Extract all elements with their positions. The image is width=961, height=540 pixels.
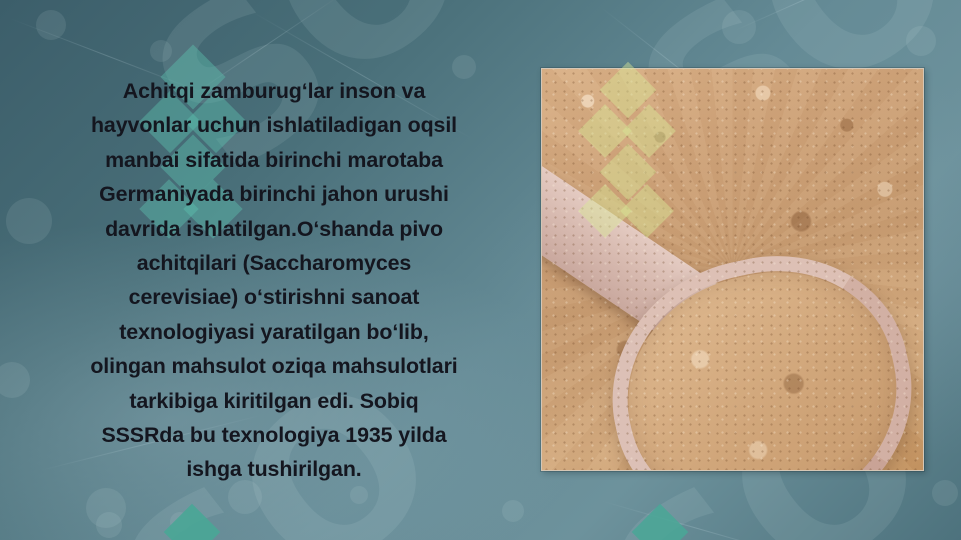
- text-line: ishga tushirilgan.: [186, 457, 361, 481]
- bokeh-circle: [932, 480, 958, 506]
- text-line: texnologiyasi yaratilgan bo‘lib,: [119, 320, 428, 344]
- bokeh-circle: [502, 500, 524, 522]
- bokeh-circle: [350, 486, 368, 504]
- bokeh-circle: [906, 26, 936, 56]
- photo-speckle-layer: [542, 69, 923, 470]
- text-line: tarkibiga kiritilgan edi. Sobiq: [129, 389, 418, 413]
- text-line: cerevisiae) o‘stirishni sanoat: [129, 285, 420, 309]
- text-line: davrida ishlatilgan.O‘shanda pivo: [105, 217, 443, 241]
- network-line: [600, 500, 793, 540]
- yeast-photo: [541, 68, 924, 471]
- slide-body-text: Achitqi zamburug‘lar inson va hayvonlar …: [18, 74, 530, 487]
- decorative-diamond: [632, 504, 689, 540]
- bokeh-circle: [36, 10, 66, 40]
- presentation-slide: SO SO SO SO Achitqi zamburug‘lar inson v…: [0, 0, 961, 540]
- text-line: Achitqi zamburug‘lar inson va: [123, 79, 426, 103]
- text-line: manbai sifatida birinchi marotaba: [105, 148, 443, 172]
- text-line: achitqilari (Saccharomyces: [137, 251, 411, 275]
- text-line: Germaniyada birinchi jahon urushi: [99, 182, 449, 206]
- text-line: hayvonlar uchun ishlatiladigan oqsil: [91, 113, 457, 137]
- bokeh-circle: [722, 10, 756, 44]
- bokeh-circle: [86, 488, 126, 528]
- decorative-diamond: [164, 504, 221, 540]
- bokeh-circle: [170, 512, 190, 532]
- bokeh-circle: [96, 512, 122, 538]
- bokeh-circle: [150, 40, 172, 62]
- network-line: [735, 0, 872, 31]
- text-line: SSSRda bu texnologiya 1935 yilda: [101, 423, 446, 447]
- text-line: olingan mahsulot oziqa mahsulotlari: [90, 354, 457, 378]
